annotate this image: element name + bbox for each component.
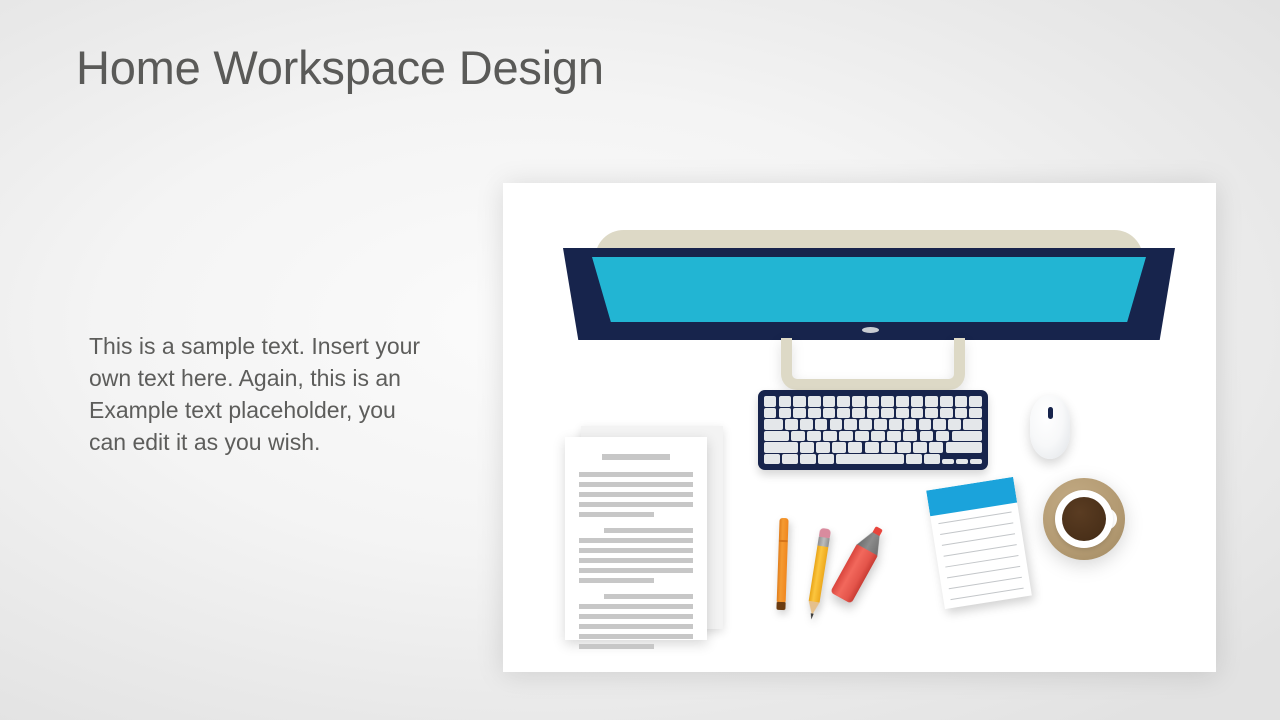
keyboard-row: [764, 442, 982, 453]
keyboard-key: [919, 419, 932, 430]
keyboard-key: [887, 431, 901, 442]
pen-body: [777, 518, 789, 602]
document-text-line: [579, 512, 654, 517]
document-paragraph: [579, 594, 693, 649]
document-text-line: [604, 528, 693, 533]
keyboard-key: [848, 442, 862, 453]
mouse-scroll-wheel: [1048, 407, 1053, 419]
keyboard-key: [800, 442, 814, 453]
keyboard-icon: [758, 390, 988, 470]
keyboard-key: [837, 396, 849, 407]
keyboard-key: [816, 442, 830, 453]
keyboard-key: [969, 408, 981, 419]
document-sheet-front: [565, 437, 707, 640]
document-paragraph: [579, 454, 693, 517]
keyboard-key-ctrl: [764, 454, 780, 465]
keyboard-key: [823, 408, 835, 419]
keyboard-key: [800, 419, 813, 430]
keyboard-key: [844, 419, 857, 430]
pencil-wood-tip: [807, 601, 820, 615]
keyboard-key: [940, 408, 952, 419]
keyboard-key: [852, 408, 864, 419]
keyboard-key: [913, 442, 927, 453]
keyboard-key: [963, 419, 982, 430]
keyboard-key: [933, 419, 946, 430]
keyboard-key: [904, 419, 917, 430]
keyboard-key: [865, 442, 879, 453]
keyboard-row: [764, 454, 982, 465]
keyboard-key: [808, 396, 820, 407]
keyboard-key: [906, 454, 922, 465]
keyboard-key: [839, 431, 853, 442]
keyboard-key-arrow: [956, 459, 968, 464]
keyboard-key-alt: [800, 454, 816, 465]
document-text-line: [579, 472, 693, 477]
keyboard-key: [807, 431, 821, 442]
keyboard-key: [815, 419, 828, 430]
keyboard-key-shift-right: [946, 442, 982, 453]
pen-cap-line: [779, 540, 788, 542]
highlighter-body: [830, 544, 878, 604]
keyboard-row: [764, 419, 982, 430]
keyboard-key: [896, 408, 908, 419]
keyboard-key: [969, 396, 981, 407]
keyboard-key: [808, 408, 820, 419]
document-text-line: [579, 548, 693, 553]
keyboard-key: [874, 419, 887, 430]
notepad-line: [940, 522, 1013, 535]
document-text-line: [579, 502, 693, 507]
document-text-line: [579, 634, 693, 639]
keyboard-key: [823, 396, 835, 407]
keyboard-key: [896, 396, 908, 407]
document-text-line: [579, 614, 693, 619]
highlighter-icon: [830, 522, 890, 604]
keyboard-key: [940, 396, 952, 407]
notepad-icon: [926, 477, 1032, 609]
keyboard-key-arrow: [970, 459, 982, 464]
keyboard-key-capslock: [764, 431, 789, 442]
pencil-icon: [806, 528, 831, 621]
keyboard-key: [830, 419, 843, 430]
keyboard-key: [897, 442, 911, 453]
monitor-stand: [781, 338, 965, 390]
document-text-line: [579, 604, 693, 609]
keyboard-key: [764, 396, 776, 407]
keyboard-key: [903, 431, 917, 442]
notepad-ruled-lines: [930, 503, 1032, 610]
keyboard-key: [818, 454, 834, 465]
document-paragraph: [579, 528, 693, 583]
page-title: Home Workspace Design: [76, 40, 604, 95]
keyboard-key: [948, 419, 961, 430]
notepad-line: [942, 533, 1015, 546]
keyboard-key-enter: [952, 431, 982, 442]
pencil-body: [809, 545, 829, 602]
document-text-line: [604, 594, 693, 599]
keyboard-key: [881, 408, 893, 419]
keyboard-key: [871, 431, 885, 442]
keyboard-key: [779, 408, 791, 419]
keyboard-key: [782, 454, 798, 465]
document-text-line: [579, 492, 693, 497]
keyboard-key: [955, 408, 967, 419]
keyboard-key: [791, 431, 805, 442]
keyboard-key: [955, 396, 967, 407]
pencil-graphite-tip: [810, 613, 814, 619]
keyboard-key: [911, 408, 923, 419]
keyboard-key: [920, 431, 934, 442]
pen-icon: [776, 518, 788, 610]
document-text-line: [579, 482, 693, 487]
coffee-cup-icon: [1043, 478, 1125, 560]
pen-end-cap: [776, 602, 785, 610]
keyboard-row: [764, 396, 982, 407]
notepad-line: [947, 566, 1020, 579]
notepad-line: [944, 544, 1017, 557]
keyboard-key-tab: [764, 419, 783, 430]
keyboard-row: [764, 408, 982, 419]
keyboard-key: [859, 419, 872, 430]
keyboard-key: [867, 408, 879, 419]
notepad-line: [952, 598, 1025, 609]
document-text-line: [579, 578, 654, 583]
body-paragraph: This is a sample text. Insert your own t…: [89, 330, 434, 458]
notepad-line: [938, 512, 1011, 525]
document-text-line: [579, 568, 693, 573]
keyboard-key: [855, 431, 869, 442]
document-text-line: [579, 644, 654, 649]
keyboard-key: [889, 419, 902, 430]
keyboard-key: [852, 396, 864, 407]
keyboard-key: [793, 408, 805, 419]
computer-mouse-icon: [1030, 395, 1070, 459]
keyboard-key: [936, 431, 950, 442]
keyboard-key-space: [836, 454, 904, 465]
keyboard-key: [779, 396, 791, 407]
keyboard-key: [837, 408, 849, 419]
notepad-line: [950, 588, 1023, 601]
paper-documents-icon: [565, 426, 725, 641]
document-text-line: [579, 558, 693, 563]
keyboard-key: [911, 396, 923, 407]
keyboard-key: [793, 396, 805, 407]
document-text-line: [579, 538, 693, 543]
workspace-illustration-card: [503, 183, 1216, 672]
keyboard-key: [929, 442, 943, 453]
notepad-line: [949, 577, 1022, 590]
keyboard-key: [925, 396, 937, 407]
monitor-screen: [592, 257, 1146, 322]
notepad-line: [945, 555, 1018, 568]
desktop-monitor-icon: [563, 230, 1175, 405]
document-text-line: [579, 624, 693, 629]
keyboard-key: [867, 396, 879, 407]
keyboard-key: [881, 396, 893, 407]
document-heading-bar: [602, 454, 670, 460]
keyboard-key-arrow: [942, 459, 954, 464]
monitor-logo-icon: [862, 327, 879, 333]
coffee-liquid: [1062, 497, 1106, 541]
keyboard-key: [924, 454, 940, 465]
keyboard-key: [823, 431, 837, 442]
keyboard-key: [764, 408, 776, 419]
keyboard-key-shift: [764, 442, 798, 453]
keyboard-key: [881, 442, 895, 453]
keyboard-key: [785, 419, 798, 430]
keyboard-row: [764, 431, 982, 442]
keyboard-key: [925, 408, 937, 419]
keyboard-key: [832, 442, 846, 453]
